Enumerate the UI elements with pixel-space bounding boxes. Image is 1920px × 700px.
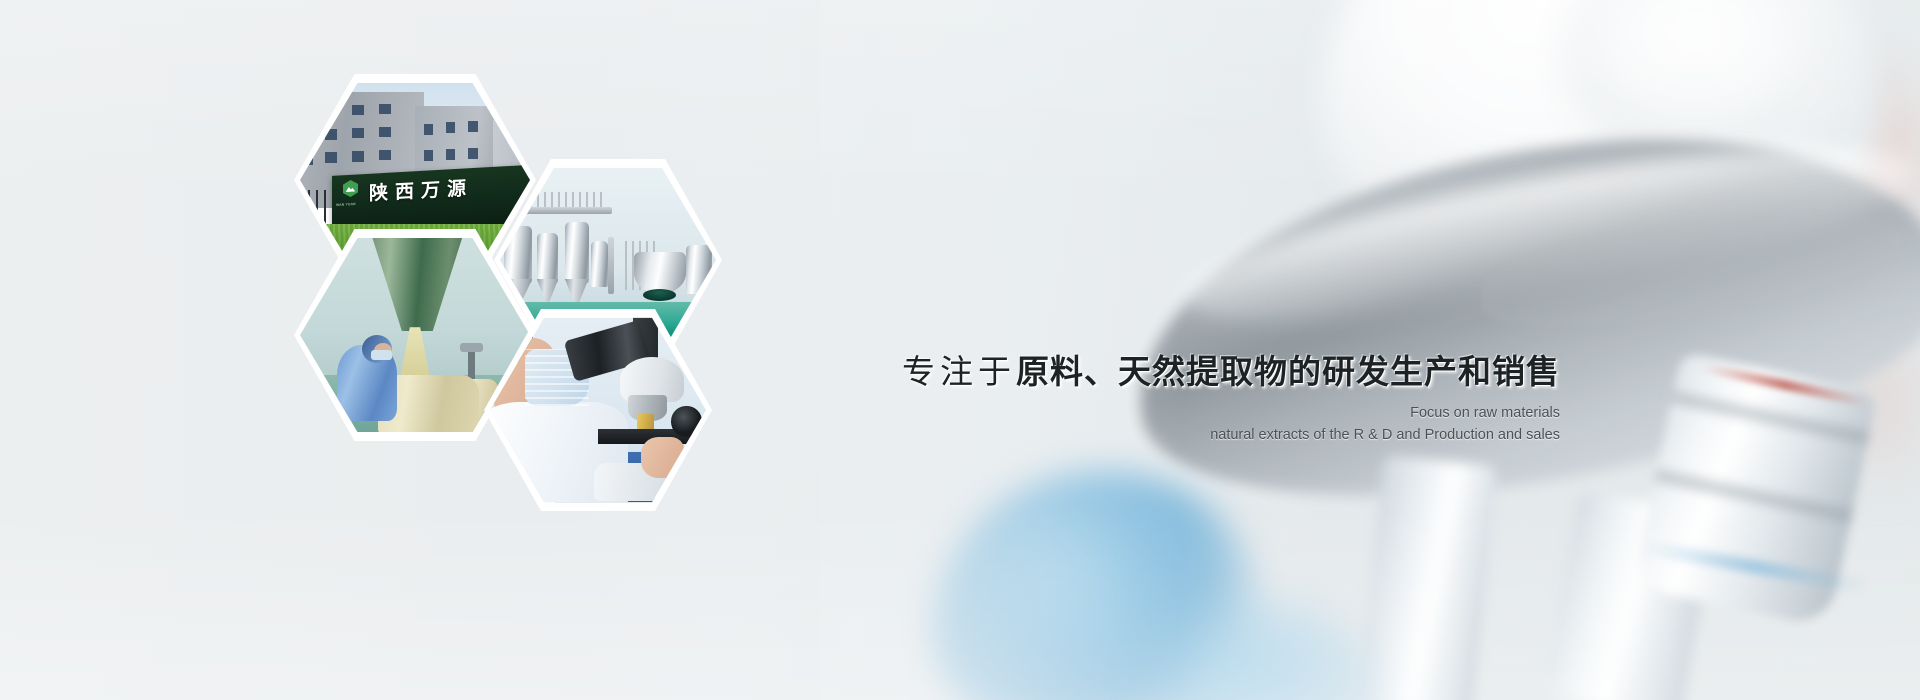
vignette-overlay — [0, 0, 1920, 700]
tank-4 — [591, 241, 608, 287]
subtitle-line-2: natural extracts of the R & D and Produc… — [700, 425, 1560, 446]
slogan-block: 专注于原料、天然提取物的研发生产和销售 Focus on raw materia… — [700, 352, 1560, 446]
tank-3 — [565, 222, 589, 283]
hero-banner: WAN YUAN 陕西万源 — [0, 0, 1920, 700]
headline: 专注于原料、天然提取物的研发生产和销售 — [700, 352, 1560, 392]
headline-strong: 原料、天然提取物的研发生产和销售 — [1016, 352, 1560, 391]
hexagon-photo-cluster: WAN YUAN 陕西万源 — [300, 80, 720, 460]
headline-lead: 专注于 — [902, 352, 1016, 391]
wall-sign-text: 陕西万源 — [369, 173, 473, 205]
worker-mask — [371, 350, 392, 360]
vertical-pipe — [608, 237, 614, 294]
tank-5 — [686, 245, 712, 294]
tank-2 — [537, 233, 559, 282]
background-photo — [0, 0, 1920, 700]
extraction-kettle — [634, 252, 686, 294]
subtitle-line-1: Focus on raw materials — [700, 403, 1560, 424]
